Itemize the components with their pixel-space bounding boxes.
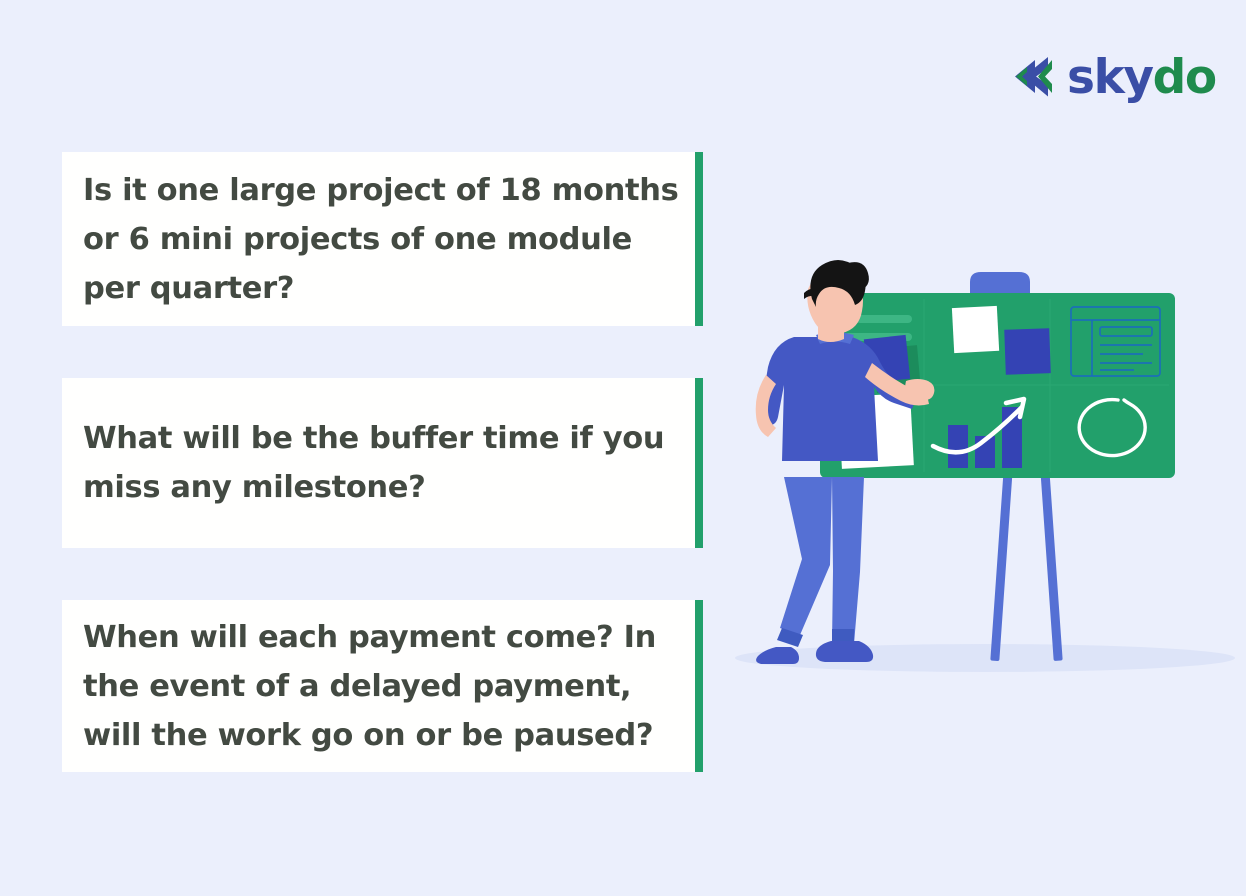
logo-word-do: do [1153, 50, 1216, 105]
board-top-clip [970, 272, 1030, 295]
question-card-1[interactable]: Is it one large project of 18 months or … [62, 152, 695, 326]
white-sticky-note-small [952, 306, 999, 353]
person-back-leg [780, 477, 832, 635]
question-card-1-accent-bar [695, 152, 703, 326]
question-card-2-accent-bar [695, 378, 703, 548]
person-shoe-front [816, 641, 873, 662]
person-shoe-back [756, 647, 799, 664]
question-card-2-text: What will be the buffer time if you miss… [62, 414, 695, 512]
blue-square-note [1004, 328, 1051, 375]
person-front-leg [832, 477, 864, 644]
question-card-3[interactable]: When will each payment come? In the even… [62, 600, 695, 772]
floor-shadow-ellipse [735, 644, 1235, 672]
person-hair-bun [841, 262, 869, 292]
front-leg-cuff [832, 629, 854, 641]
skydo-logo[interactable]: skydo [1008, 46, 1200, 108]
presentation-board-illustration [720, 255, 1240, 680]
logo-word-sky: sky [1067, 50, 1153, 105]
question-card-3-accent-bar [695, 600, 703, 772]
poster-canvas: skydo Is it one large project of 18 mont… [0, 0, 1246, 896]
question-card-2[interactable]: What will be the buffer time if you miss… [62, 378, 695, 548]
double-chevron-left-icon [1008, 53, 1058, 101]
question-card-3-text: When will each payment come? In the even… [62, 613, 695, 760]
logo-wordmark: skydo [1067, 54, 1216, 101]
tripod-legs [990, 475, 1062, 661]
question-card-1-text: Is it one large project of 18 months or … [62, 166, 695, 313]
